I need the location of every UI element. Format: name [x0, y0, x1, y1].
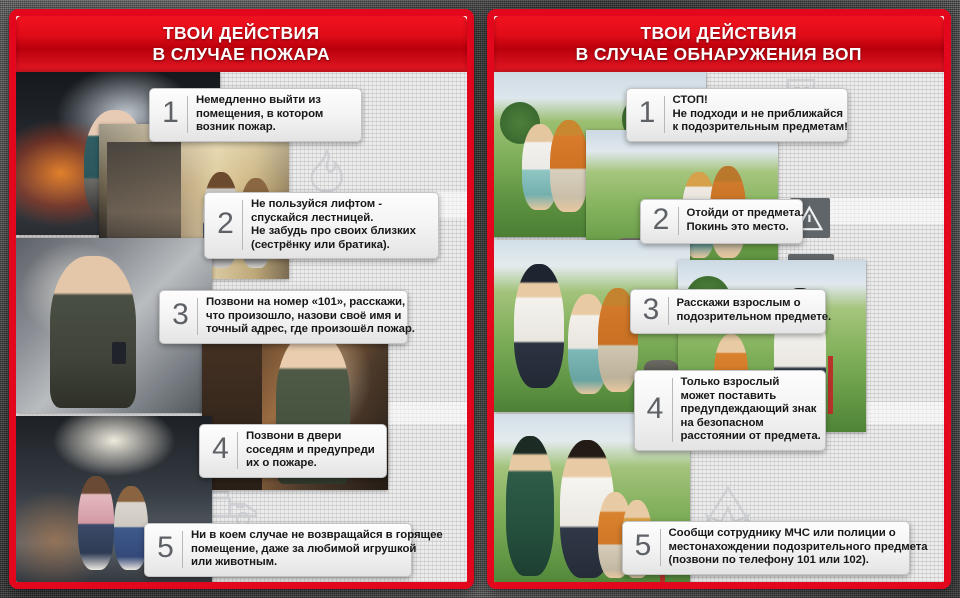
poster-vop-title-line1: ТВОИ ДЕЙСТВИЯ — [640, 23, 797, 44]
step-card-2[interactable]: 2 Отойди от предмета. Покинь это место. — [640, 199, 803, 244]
step-divider — [197, 298, 198, 335]
step-text: Отойди от предмета. Покинь это место. — [687, 207, 804, 234]
step-text: Не пользуйся лифтом - спускайся лестнице… — [251, 198, 429, 252]
poster-stage: ТВОИ ДЕЙСТВИЯ В СЛУЧАЕ ПОЖАРА — [0, 0, 960, 598]
step-text: Сообщи сотруднику МЧС или полиции о мест… — [669, 527, 928, 568]
poster-fire-safety: ТВОИ ДЕЙСТВИЯ В СЛУЧАЕ ПОЖАРА — [9, 9, 474, 589]
poster-fire-title-line2: В СЛУЧАЕ ПОЖАРА — [152, 44, 330, 65]
step-number: 4 — [206, 430, 235, 471]
step-text: Немедленно выйти из помещения, в котором… — [196, 94, 352, 135]
step-divider — [237, 432, 238, 469]
step-divider — [664, 96, 665, 133]
step-divider — [242, 200, 243, 250]
poster-fire-canvas: 1 Немедленно выйти из помещения, в котор… — [16, 72, 467, 582]
poster-fire-title-line1: ТВОИ ДЕЙСТВИЯ — [163, 23, 320, 44]
step-divider — [678, 207, 679, 235]
step-card-5[interactable]: 5 Сообщи сотруднику МЧС или полиции о ме… — [622, 521, 910, 575]
step-text: Позвони в двери соседям и предупреди их … — [246, 430, 377, 471]
step-card-4[interactable]: 4 Только взрослый может поставить предуп… — [634, 370, 826, 451]
poster-vop-canvas: 101 — [494, 72, 945, 582]
step-number: 3 — [166, 296, 195, 337]
poster-explosive-object-safety: ТВОИ ДЕЙСТВИЯ В СЛУЧАЕ ОБНАРУЖЕНИЯ ВОП — [487, 9, 952, 589]
poster-vop-title-line2: В СЛУЧАЕ ОБНАРУЖЕНИЯ ВОП — [576, 44, 862, 65]
step-text: Только взрослый может поставить предупде… — [681, 376, 821, 444]
step-divider — [660, 529, 661, 566]
poster-fire-header: ТВОИ ДЕЙСТВИЯ В СЛУЧАЕ ПОЖАРА — [16, 16, 467, 72]
step-card-5[interactable]: 5 Ни в коем случае не возвращайся в горя… — [144, 523, 412, 577]
step-text: Позвони на номер «101», расскажи, что пр… — [206, 296, 415, 337]
step-text: СТОП! Не подходи и не приближайся к подо… — [673, 94, 848, 135]
step-number: 5 — [629, 527, 658, 568]
poster-vop-header: ТВОИ ДЕЙСТВИЯ В СЛУЧАЕ ОБНАРУЖЕНИЯ ВОП — [494, 16, 945, 72]
step-card-3[interactable]: 3 Расскажи взрослым о подозрительном пре… — [630, 289, 826, 334]
step-card-1[interactable]: 1 СТОП! Не подходи и не приближайся к по… — [626, 88, 848, 142]
step-divider — [668, 297, 669, 325]
step-card-1[interactable]: 1 Немедленно выйти из помещения, в котор… — [149, 88, 362, 142]
step-number: 1 — [633, 94, 662, 135]
step-divider — [182, 531, 183, 568]
step-number: 2 — [647, 205, 676, 237]
step-number: 1 — [156, 94, 185, 135]
step-number: 3 — [637, 295, 666, 327]
step-text: Ни в коем случае не возвращайся в горяще… — [191, 529, 443, 570]
step-card-3[interactable]: 3 Позвони на номер «101», расскажи, что … — [159, 290, 408, 344]
step-text: Расскажи взрослым о подозрительном предм… — [677, 297, 832, 324]
step-card-2[interactable]: 2 Не пользуйся лифтом - спускайся лестни… — [204, 192, 439, 259]
step-number: 2 — [211, 198, 240, 252]
step-number: 5 — [151, 529, 180, 570]
step-number: 4 — [641, 376, 670, 444]
step-divider — [187, 96, 188, 133]
step-divider — [672, 378, 673, 442]
step-card-4[interactable]: 4 Позвони в двери соседям и предупреди и… — [199, 424, 387, 478]
